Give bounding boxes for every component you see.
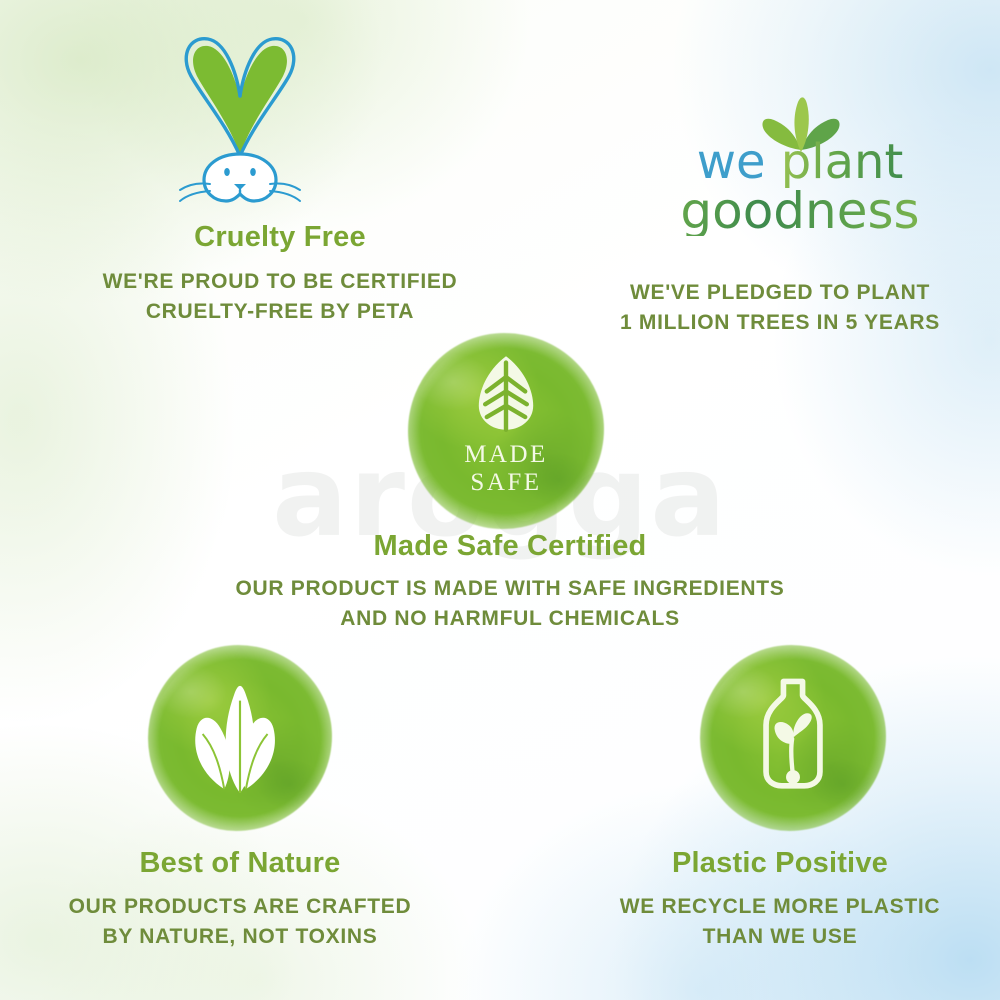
made-safe-badge-line-1: MADE <box>408 441 604 468</box>
plastic-positive-badge <box>700 645 886 831</box>
bottle-sprout-icon <box>745 678 841 791</box>
plastic-positive-title: Plastic Positive <box>570 848 990 880</box>
cruelty-free-description: WE'RE PROUD TO BE CERTIFIED CRUELTY-FREE… <box>40 267 520 327</box>
cruelty-free-title: Cruelty Free <box>40 222 520 254</box>
best-of-nature-description: OUR PRODUCTS ARE CRAFTED BY NATURE, NOT … <box>30 892 450 952</box>
sustainability-poster: arogga Cruelty Free WE'RE PROUD TO <box>0 0 1000 1000</box>
cell-best-of-nature: Best of Nature OUR PRODUCTS ARE CRAFTED … <box>30 848 450 952</box>
made-safe-leaf-icon <box>466 353 546 433</box>
logo-line-2: goodness <box>650 186 950 236</box>
made-safe-description: OUR PRODUCT IS MADE WITH SAFE INGREDIENT… <box>150 574 870 634</box>
we-plant-goodness-description: WE'VE PLEDGED TO PLANT 1 MILLION TREES I… <box>560 278 1000 338</box>
cell-made-safe: Made Safe Certified OUR PRODUCT IS MADE … <box>150 531 870 634</box>
plastic-positive-description: WE RECYCLE MORE PLASTIC THAN WE USE <box>570 892 990 952</box>
peta-bunny-icon <box>170 26 310 211</box>
made-safe-badge-line-2: SAFE <box>408 469 604 496</box>
logo-line-1: we plant <box>650 138 950 186</box>
cell-plastic-positive: Plastic Positive WE RECYCLE MORE PLASTIC… <box>570 848 990 952</box>
we-plant-goodness-logo: we plant goodness <box>650 96 950 236</box>
cell-cruelty-free: Cruelty Free WE'RE PROUD TO BE CERTIFIED… <box>40 222 520 327</box>
three-leaves-icon <box>181 677 299 795</box>
made-safe-title: Made Safe Certified <box>150 531 870 563</box>
best-of-nature-badge <box>148 645 332 831</box>
best-of-nature-title: Best of Nature <box>30 848 450 880</box>
made-safe-badge: MADE SAFE <box>408 333 604 529</box>
cell-we-plant-goodness: WE'VE PLEDGED TO PLANT 1 MILLION TREES I… <box>560 278 1000 338</box>
